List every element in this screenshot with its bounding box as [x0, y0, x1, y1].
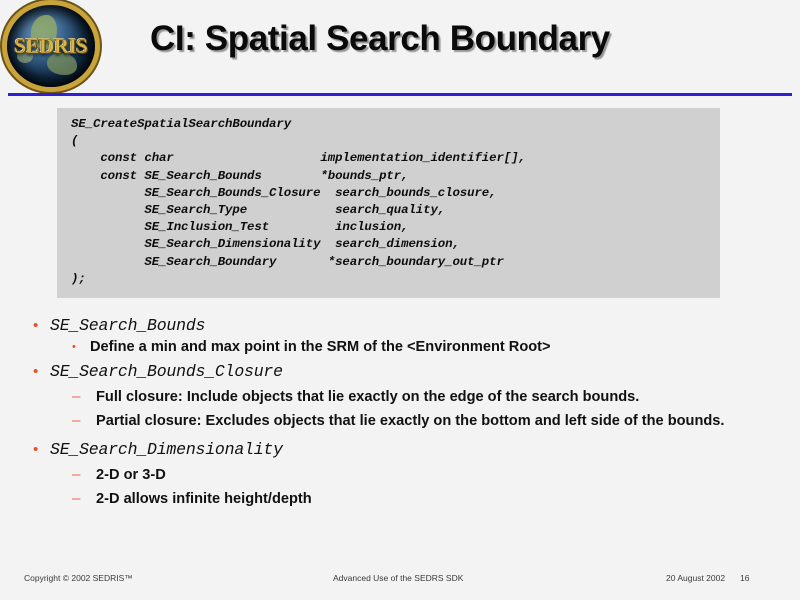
- list-item-label: Partial closure: Excludes objects that l…: [96, 411, 724, 431]
- list-item-label: 2-D or 3-D: [96, 465, 166, 485]
- bullet-dash-icon: –: [68, 489, 96, 509]
- slide-header: SEDRIS CI: Spatial Search Boundary: [0, 0, 800, 95]
- sedris-logo: SEDRIS: [7, 5, 95, 87]
- list-item: • SE_Search_Bounds: [28, 314, 776, 337]
- code-signature-text: SE_CreateSpatialSearchBoundary ( const c…: [71, 116, 720, 288]
- footer-presentation-title: Advanced Use of the SEDRS SDK: [333, 573, 463, 583]
- header-divider: [8, 93, 792, 96]
- list-item-label: Define a min and max point in the SRM of…: [90, 337, 551, 358]
- footer-copyright: Copyright © 2002 SEDRIS™: [24, 573, 133, 583]
- list-item: – Partial closure: Excludes objects that…: [68, 411, 776, 431]
- footer-page-number: 16: [740, 573, 749, 583]
- list-item: • SE_Search_Dimensionality: [28, 438, 776, 461]
- list-item: • Define a min and max point in the SRM …: [68, 337, 776, 358]
- list-spacer: [28, 431, 776, 436]
- list-item: – Full closure: Include objects that lie…: [68, 387, 776, 407]
- footer-date: 20 August 2002: [666, 573, 725, 583]
- bullet-dot-icon: •: [28, 360, 50, 383]
- list-item: • SE_Search_Bounds_Closure: [28, 360, 776, 383]
- list-item-label: SE_Search_Bounds_Closure: [50, 360, 283, 383]
- list-item: – 2-D allows infinite height/depth: [68, 489, 776, 509]
- list-item-label: Full closure: Include objects that lie e…: [96, 387, 639, 407]
- bullet-dash-icon: –: [68, 465, 96, 485]
- page-title: CI: Spatial Search Boundary: [150, 19, 750, 59]
- slide-footer: Copyright © 2002 SEDRIS™ Advanced Use of…: [0, 570, 800, 590]
- list-item-label: SE_Search_Dimensionality: [50, 438, 283, 461]
- bullet-dot-small-icon: •: [68, 337, 90, 358]
- list-item-label: SE_Search_Bounds: [50, 314, 205, 337]
- bullet-dot-icon: •: [28, 438, 50, 461]
- list-item-label: 2-D allows infinite height/depth: [96, 489, 312, 509]
- list-item: – 2-D or 3-D: [68, 465, 776, 485]
- logo-wordmark: SEDRIS: [15, 34, 88, 59]
- bullet-list: • SE_Search_Bounds • Define a min and ma…: [28, 312, 776, 509]
- bullet-dash-icon: –: [68, 411, 96, 431]
- bullet-dot-icon: •: [28, 314, 50, 337]
- code-signature-block: SE_CreateSpatialSearchBoundary ( const c…: [57, 108, 720, 298]
- bullet-dash-icon: –: [68, 387, 96, 407]
